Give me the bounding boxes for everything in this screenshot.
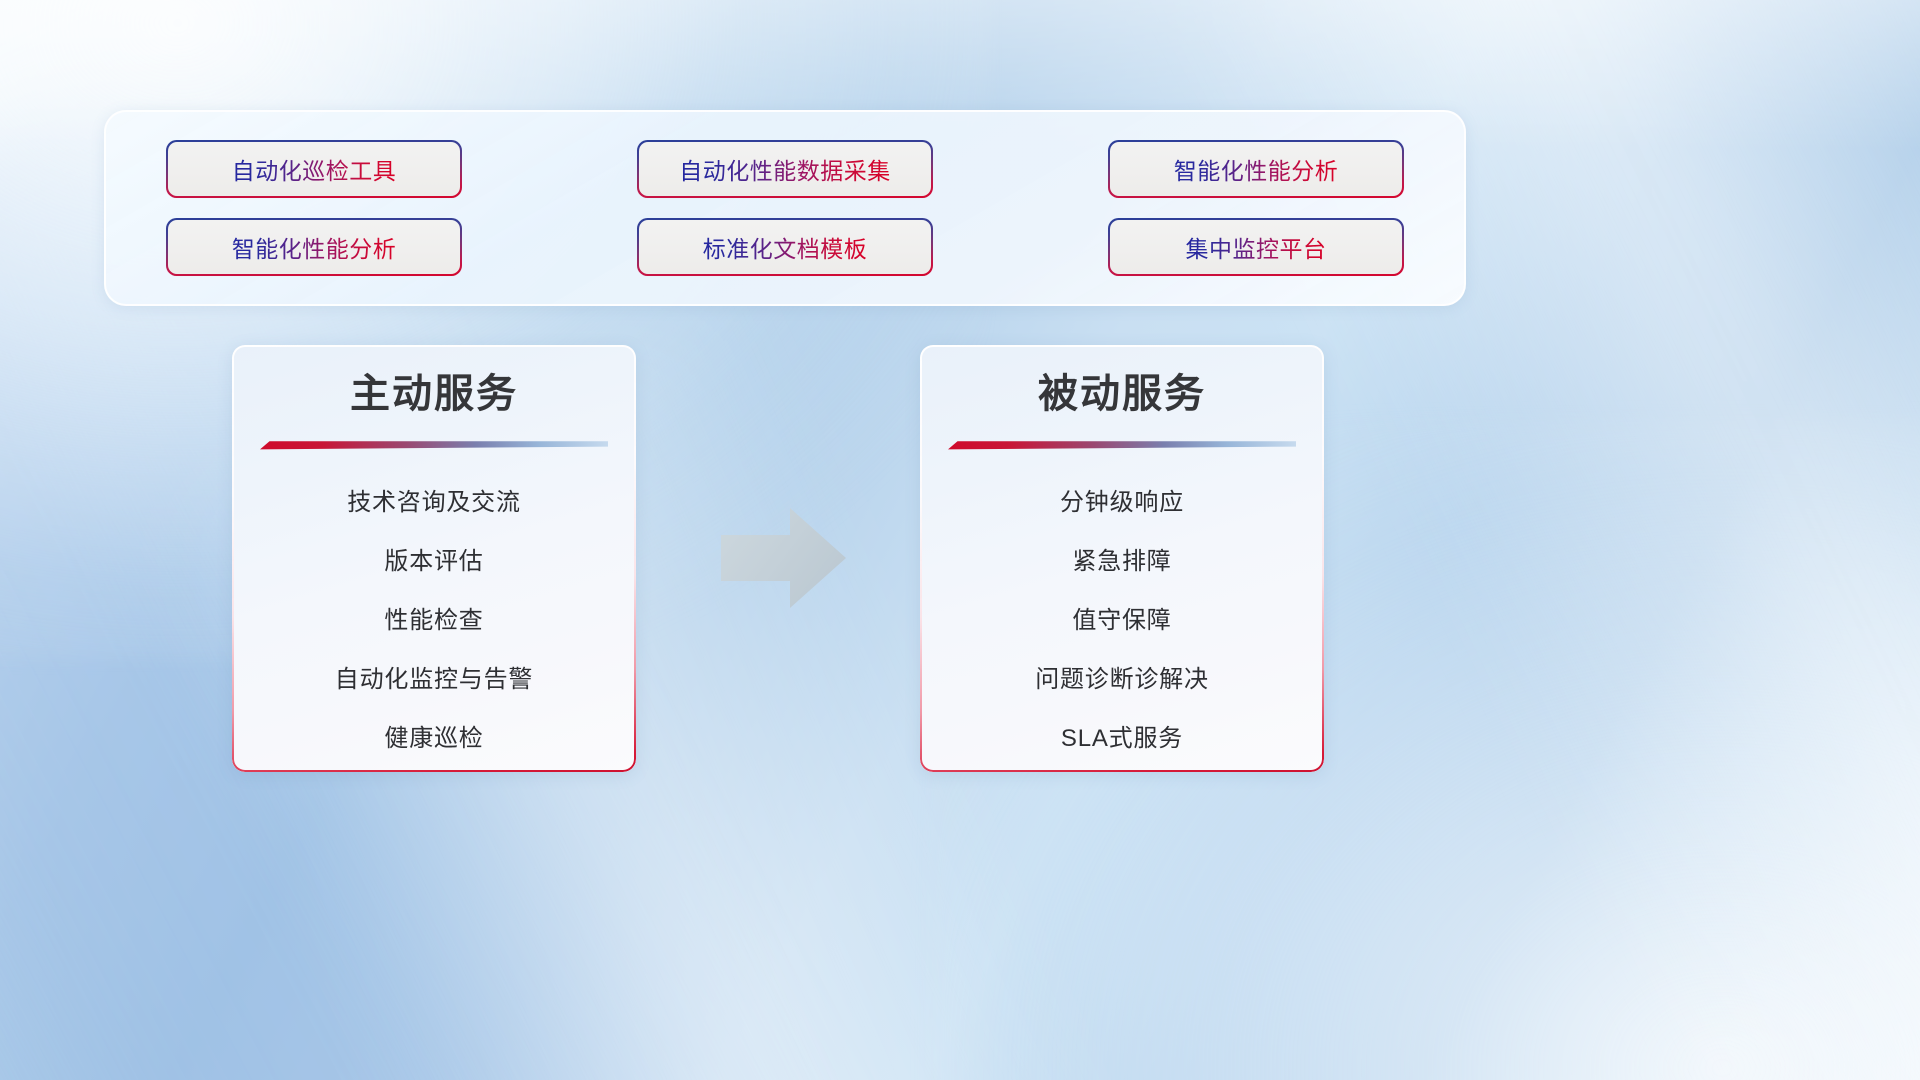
capability-tag-label: 标准化文档模板 bbox=[703, 230, 868, 264]
service-list-item: 紧急排障 bbox=[1072, 529, 1171, 588]
service-card-title: 主动服务 bbox=[350, 369, 518, 419]
capability-tag-label: 自动化巡检工具 bbox=[232, 152, 397, 186]
service-list-item: 自动化监控与告警 bbox=[335, 647, 533, 706]
capability-tag-label: 自动化性能数据采集 bbox=[679, 152, 891, 186]
capability-tag-label: 智能化性能分析 bbox=[232, 230, 397, 264]
service-card-divider bbox=[948, 437, 1296, 450]
service-card-body: 被动服务 bbox=[920, 345, 1324, 772]
capability-panel: 自动化巡检工具 自动化性能数据采集 智能化性能分析 智能化性能分析 标准化文档模… bbox=[104, 110, 1466, 306]
capability-tag[interactable]: 自动化巡检工具 bbox=[168, 142, 460, 196]
service-card-title: 被动服务 bbox=[1038, 369, 1206, 419]
service-list-item: 健康巡检 bbox=[384, 706, 483, 765]
service-list-item: 值守保障 bbox=[1072, 588, 1171, 647]
service-list-item: 性能检查 bbox=[384, 588, 483, 647]
capability-tag[interactable]: 自动化性能数据采集 bbox=[639, 142, 931, 196]
capability-tag[interactable]: 智能化性能分析 bbox=[168, 220, 460, 274]
capability-row-2: 智能化性能分析 标准化文档模板 集中监控平台 bbox=[168, 220, 1402, 274]
capability-tag-label: 集中监控平台 bbox=[1186, 230, 1327, 264]
service-card-divider bbox=[260, 437, 608, 450]
service-card-list: 技术咨询及交流 版本评估 性能检查 自动化监控与告警 健康巡检 bbox=[232, 470, 636, 765]
capability-tag-label: 智能化性能分析 bbox=[1174, 152, 1339, 186]
service-card-passive[interactable]: 被动服务 bbox=[920, 345, 1324, 772]
service-card-list: 分钟级响应 紧急排障 值守保障 问题诊断诊解决 SLA式服务 bbox=[920, 470, 1324, 765]
arrow-right-icon bbox=[716, 504, 851, 612]
capability-tag[interactable]: 标准化文档模板 bbox=[639, 220, 931, 274]
capability-row-1: 自动化巡检工具 自动化性能数据采集 智能化性能分析 bbox=[168, 142, 1402, 196]
capability-tag[interactable]: 智能化性能分析 bbox=[1110, 142, 1402, 196]
service-list-item: SLA式服务 bbox=[1061, 706, 1183, 765]
service-card-active[interactable]: 主动服务 bbox=[232, 345, 636, 772]
service-list-item: 技术咨询及交流 bbox=[347, 470, 521, 529]
slide-stage: 自动化巡检工具 自动化性能数据采集 智能化性能分析 智能化性能分析 标准化文档模… bbox=[0, 0, 1920, 1080]
capability-tag[interactable]: 集中监控平台 bbox=[1110, 220, 1402, 274]
service-list-item: 问题诊断诊解决 bbox=[1035, 647, 1209, 706]
service-list-item: 分钟级响应 bbox=[1060, 470, 1184, 529]
service-list-item: 版本评估 bbox=[384, 529, 483, 588]
service-card-body: 主动服务 bbox=[232, 345, 636, 772]
